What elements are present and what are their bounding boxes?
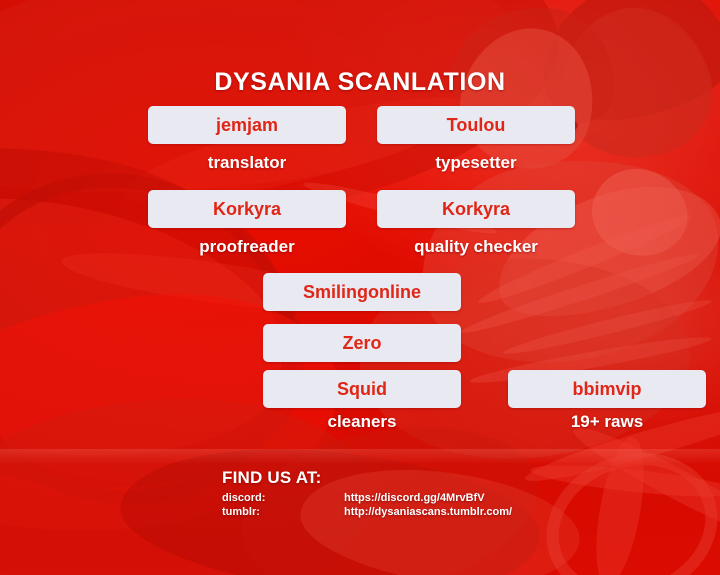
- footer-url-discord[interactable]: https://discord.gg/4MrvBfV: [344, 491, 485, 505]
- scanlation-credits-page: DYSANIA SCANLATION jemjam translator Tou…: [0, 0, 720, 575]
- footer-title: FIND US AT:: [222, 468, 512, 488]
- credit-chip-quality-checker: Korkyra: [377, 190, 575, 228]
- credit-chip-cleaner-2: Zero: [263, 324, 461, 362]
- footer: FIND US AT: discord: https://discord.gg/…: [222, 468, 512, 519]
- footer-label-tumblr: tumblr:: [222, 505, 344, 519]
- credit-role-proofreader: proofreader: [148, 237, 346, 257]
- credit-chip-proofreader: Korkyra: [148, 190, 346, 228]
- credit-role-raws: 19+ raws: [508, 412, 706, 432]
- credits-content: DYSANIA SCANLATION jemjam translator Tou…: [0, 0, 720, 575]
- credit-chip-translator: jemjam: [148, 106, 346, 144]
- credit-chip-raws-provider: bbimvip: [508, 370, 706, 408]
- footer-url-tumblr[interactable]: http://dysaniascans.tumblr.com/: [344, 505, 512, 519]
- footer-label-discord: discord:: [222, 491, 344, 505]
- credit-chip-cleaner-3: Squid: [263, 370, 461, 408]
- footer-link-row-discord: discord: https://discord.gg/4MrvBfV: [222, 491, 512, 505]
- footer-link-row-tumblr: tumblr: http://dysaniascans.tumblr.com/: [222, 505, 512, 519]
- credit-chip-typesetter: Toulou: [377, 106, 575, 144]
- credit-role-translator: translator: [148, 153, 346, 173]
- credit-role-quality-checker: quality checker: [377, 237, 575, 257]
- page-title: DYSANIA SCANLATION: [0, 68, 720, 97]
- credit-chip-cleaner-1: Smilingonline: [263, 273, 461, 311]
- credit-role-cleaners: cleaners: [263, 412, 461, 432]
- credit-role-typesetter: typesetter: [377, 153, 575, 173]
